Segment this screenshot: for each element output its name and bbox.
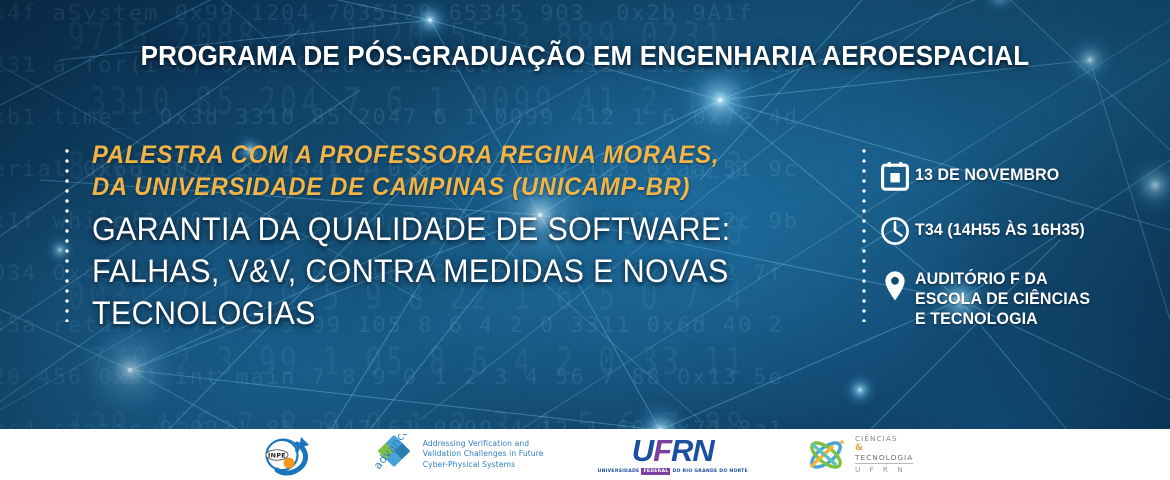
advance-tagline-line-3: Cyber-Physical Systems xyxy=(423,460,544,470)
event-info-panel: 13 DE NOVEMBRO T34 (14H55 ÀS 16H35) AUDI… xyxy=(875,158,1155,329)
advance-tagline-line-1: Addressing Verification and xyxy=(423,439,544,449)
event-date-text: 13 DE NOVEMBRO xyxy=(915,158,1059,185)
event-place-line-3: E TECNOLOGIA xyxy=(915,309,1090,329)
advance-tagline-line-2: Validation Challenges in Future xyxy=(423,449,544,459)
ufrn-wordmark: UFRN xyxy=(632,435,714,466)
ufrn-subtitle: UNIVERSIDADE FEDERAL DO RIO GRANDE DO NO… xyxy=(598,468,748,475)
page-title: PROGRAMA DE PÓS-GRADUAÇÃO EM ENGENHARIA … xyxy=(41,40,1129,72)
ufrn-subtitle-highlight: FEDERAL xyxy=(641,468,670,475)
lecture-headline-line-3: TECNOLOGIAS xyxy=(92,292,719,334)
lecture-headline-line-2: FALHAS, V&V, CONTRA MEDIDAS E NOVAS xyxy=(92,250,719,292)
inpe-logo: INPE xyxy=(257,433,317,477)
lecture-subtitle: PALESTRA COM A PROFESSORA REGINA MORAES,… xyxy=(92,139,681,203)
event-place-row: AUDITÓRIO F DA ESCOLA DE CIÊNCIAS E TECN… xyxy=(875,268,1155,329)
ct-ampersand: & xyxy=(855,444,913,453)
footer-logo-bar: INPE advance Addressing Verification and… xyxy=(0,429,1170,480)
ufrn-subtitle-pre: UNIVERSIDADE xyxy=(598,469,640,474)
map-pin-icon xyxy=(875,268,915,304)
ufrn-subtitle-post: DO RIO GRANDE DO NORTE xyxy=(672,469,748,474)
advance-diamond-icon: advance xyxy=(371,434,417,476)
ct-wordmark: CIÊNCIAS & TECNOLOGIA U F R N xyxy=(855,434,913,475)
divider-dotted-right xyxy=(862,146,866,322)
advance-tagline: Addressing Verification and Validation C… xyxy=(423,439,544,470)
event-place-text: AUDITÓRIO F DA ESCOLA DE CIÊNCIAS E TECN… xyxy=(915,268,1090,329)
event-place-line-2: ESCOLA DE CIÊNCIAS xyxy=(915,289,1090,309)
calendar-icon xyxy=(875,158,915,194)
ct-tecnologia: TECNOLOGIA xyxy=(855,453,913,464)
divider-dotted-left xyxy=(65,146,69,322)
ciencias-tecnologia-ufrn-logo: CIÊNCIAS & TECNOLOGIA U F R N xyxy=(802,434,913,475)
lecture-headline: GARANTIA DA QUALIDADE DE SOFTWARE: FALHA… xyxy=(92,208,719,334)
lecture-subtitle-line-2: DA UNIVERSIDADE DE CAMPINAS (UNICAMP-BR) xyxy=(92,171,681,203)
event-banner: 94 1208 7035 1 23 65345 9 0 3 9715 2088 … xyxy=(0,0,1170,480)
ufrn-letter-f: F xyxy=(653,433,671,468)
ufrn-letters-rn: RN xyxy=(671,433,714,468)
clock-icon xyxy=(875,213,915,249)
advance-logo: advance Addressing Verification and Vali… xyxy=(371,434,544,476)
event-time-row: T34 (14H55 ÀS 16H35) xyxy=(875,213,1155,249)
event-place-line-1: AUDITÓRIO F DA xyxy=(915,269,1090,289)
ufrn-letter-u: U xyxy=(632,433,653,468)
svg-text:INPE: INPE xyxy=(268,451,286,459)
ct-ufrn: U F R N xyxy=(855,465,913,474)
event-date-row: 13 DE NOVEMBRO xyxy=(875,158,1155,194)
ct-line-1: CIÊNCIAS & xyxy=(855,434,913,453)
ct-atom-icon xyxy=(802,435,850,475)
lecture-headline-line-1: GARANTIA DA QUALIDADE DE SOFTWARE: xyxy=(92,208,719,250)
event-time-text: T34 (14H55 ÀS 16H35) xyxy=(915,213,1085,240)
ufrn-logo: UFRN UNIVERSIDADE FEDERAL DO RIO GRANDE … xyxy=(598,435,748,475)
lecture-subtitle-line-1: PALESTRA COM A PROFESSORA REGINA MORAES, xyxy=(92,139,681,171)
